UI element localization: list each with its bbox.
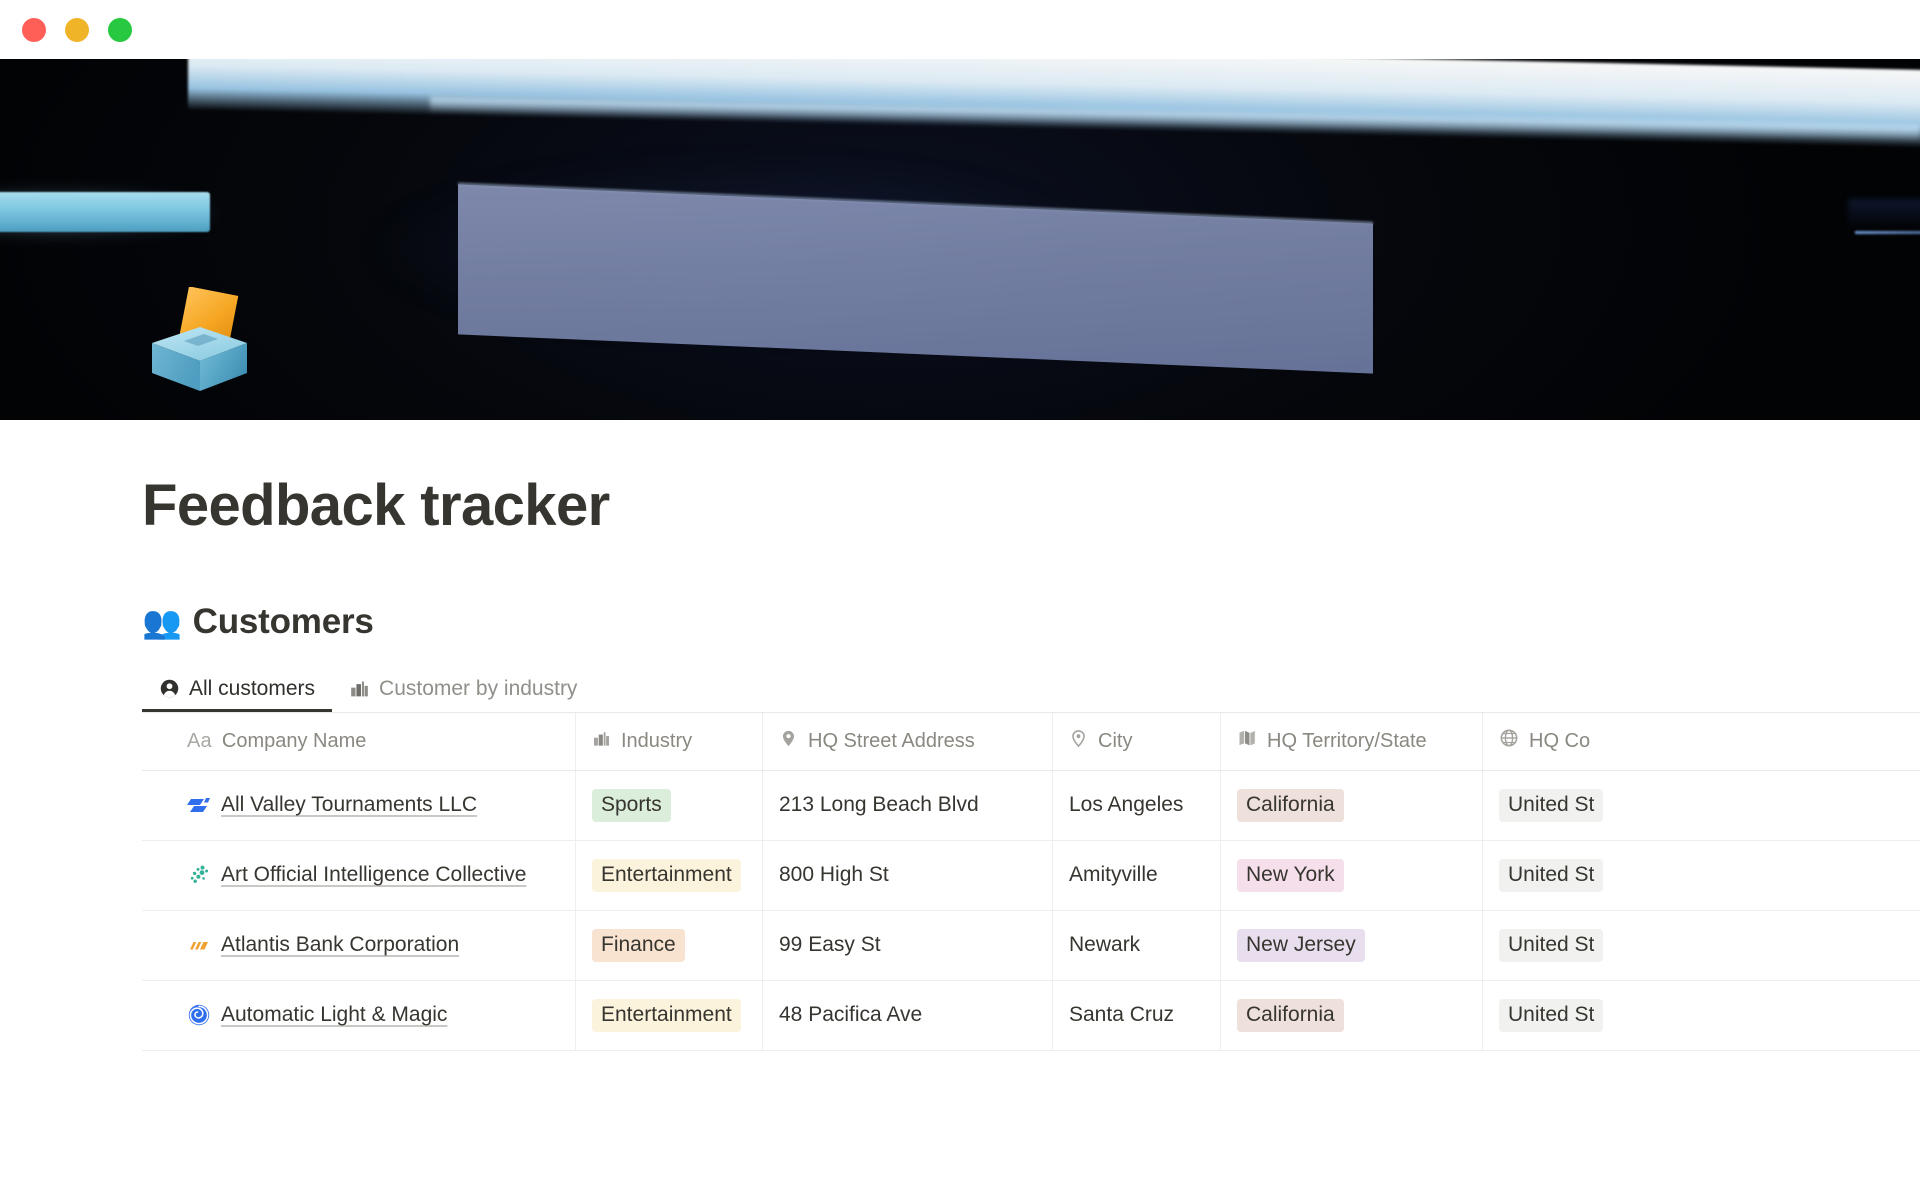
country-tag: United St [1499, 999, 1603, 1032]
cell-industry[interactable]: Entertainment [576, 981, 763, 1050]
company-name-link[interactable]: Automatic Light & Magic [221, 1003, 447, 1027]
industry-tag: Entertainment [592, 999, 741, 1032]
company-name-link[interactable]: Atlantis Bank Corporation [221, 933, 459, 957]
cell-hq-street-address[interactable]: 48 Pacifica Ave [763, 981, 1053, 1050]
page-title: Feedback tracker [142, 475, 1920, 538]
table-row[interactable]: Automatic Light & Magic Entertainment 48… [142, 981, 1920, 1051]
cell-hq-street-address[interactable]: 800 High St [763, 841, 1053, 910]
people-emoji-icon: 👥 [142, 606, 182, 638]
globe-icon [1499, 728, 1519, 754]
section-heading: 👥 Customers [142, 602, 1920, 642]
map-folded-icon [1237, 728, 1257, 754]
cell-company-name[interactable]: Art Official Intelligence Collective [142, 841, 576, 910]
country-tag: United St [1499, 929, 1603, 962]
tab-label: All customers [189, 677, 315, 701]
country-tag: United St [1499, 789, 1603, 822]
cell-company-name[interactable]: Automatic Light & Magic [142, 981, 576, 1050]
state-tag: California [1237, 789, 1344, 822]
column-header-label: City [1098, 730, 1132, 753]
column-header-hq-country[interactable]: HQ Co [1483, 713, 1920, 770]
section-heading-label: Customers [193, 602, 374, 642]
cover-right-glow [1848, 199, 1920, 229]
column-header-industry[interactable]: Industry [576, 713, 763, 770]
blue-slash-logo-icon [187, 793, 211, 817]
column-header-label: HQ Street Address [808, 730, 975, 753]
close-button[interactable] [22, 18, 46, 42]
cell-industry[interactable]: Finance [576, 911, 763, 980]
factory-icon [349, 678, 370, 699]
cell-city[interactable]: Los Angeles [1053, 771, 1221, 840]
cell-company-name[interactable]: Atlantis Bank Corporation [142, 911, 576, 980]
state-tag: New Jersey [1237, 929, 1365, 962]
ballot-box-icon[interactable] [142, 287, 256, 395]
tab-customer-by-industry[interactable]: Customer by industry [332, 666, 594, 712]
database-view-tabs: All customers Customer by industry [142, 666, 1920, 712]
page-content: Feedback tracker 👥 Customers All custome… [0, 420, 1920, 1051]
cell-city[interactable]: Amityville [1053, 841, 1221, 910]
cell-hq-country[interactable]: United St [1483, 911, 1920, 980]
industry-tag: Finance [592, 929, 685, 962]
cell-hq-country[interactable]: United St [1483, 981, 1920, 1050]
cell-industry[interactable]: Entertainment [576, 841, 763, 910]
blue-spiral-logo-icon [187, 1003, 211, 1027]
column-header-label: HQ Co [1529, 730, 1590, 753]
cell-city[interactable]: Newark [1053, 911, 1221, 980]
cell-hq-country[interactable]: United St [1483, 841, 1920, 910]
column-header-label: HQ Territory/State [1267, 730, 1427, 753]
maximize-button[interactable] [108, 18, 132, 42]
customers-table: Aa Company Name Industry [142, 712, 1920, 1051]
page-cover-image[interactable] [0, 59, 1920, 420]
cover-left-light-bar [0, 192, 210, 232]
cell-hq-territory-state[interactable]: New York [1221, 841, 1483, 910]
column-header-city[interactable]: City [1053, 713, 1221, 770]
minimize-button[interactable] [65, 18, 89, 42]
cell-hq-territory-state[interactable]: New Jersey [1221, 911, 1483, 980]
column-header-label: Industry [621, 730, 692, 753]
table-row[interactable]: Art Official Intelligence Collective Ent… [142, 841, 1920, 911]
cell-company-name[interactable]: All Valley Tournaments LLC [142, 771, 576, 840]
map-pin-filled-icon [779, 729, 798, 754]
table-header-row: Aa Company Name Industry [142, 713, 1920, 771]
industry-tag: Entertainment [592, 859, 741, 892]
cell-hq-street-address[interactable]: 213 Long Beach Blvd [763, 771, 1053, 840]
column-header-company-name[interactable]: Aa Company Name [142, 713, 576, 770]
factory-icon [592, 729, 611, 754]
tab-all-customers[interactable]: All customers [142, 666, 332, 712]
person-circle-icon [159, 678, 180, 699]
window-titlebar [0, 0, 1920, 59]
country-tag: United St [1499, 859, 1603, 892]
teal-dots-logo-icon [187, 863, 211, 887]
industry-tag: Sports [592, 789, 671, 822]
cell-hq-territory-state[interactable]: California [1221, 771, 1483, 840]
state-tag: New York [1237, 859, 1344, 892]
cell-hq-country[interactable]: United St [1483, 771, 1920, 840]
company-name-link[interactable]: Art Official Intelligence Collective [221, 863, 526, 887]
map-pin-outline-icon [1069, 729, 1088, 754]
column-header-hq-territory-state[interactable]: HQ Territory/State [1221, 713, 1483, 770]
table-row[interactable]: Atlantis Bank Corporation Finance 99 Eas… [142, 911, 1920, 981]
cover-right-light-line [1855, 231, 1920, 234]
aa-text-icon: Aa [187, 730, 212, 753]
cell-city[interactable]: Santa Cruz [1053, 981, 1221, 1050]
tab-label: Customer by industry [379, 677, 577, 701]
table-row[interactable]: All Valley Tournaments LLC Sports 213 Lo… [142, 771, 1920, 841]
cell-industry[interactable]: Sports [576, 771, 763, 840]
column-header-label: Company Name [222, 730, 367, 753]
column-header-hq-street-address[interactable]: HQ Street Address [763, 713, 1053, 770]
cell-hq-street-address[interactable]: 99 Easy St [763, 911, 1053, 980]
state-tag: California [1237, 999, 1344, 1032]
orange-slashes-logo-icon [187, 933, 211, 957]
cell-hq-territory-state[interactable]: California [1221, 981, 1483, 1050]
company-name-link[interactable]: All Valley Tournaments LLC [221, 793, 477, 817]
